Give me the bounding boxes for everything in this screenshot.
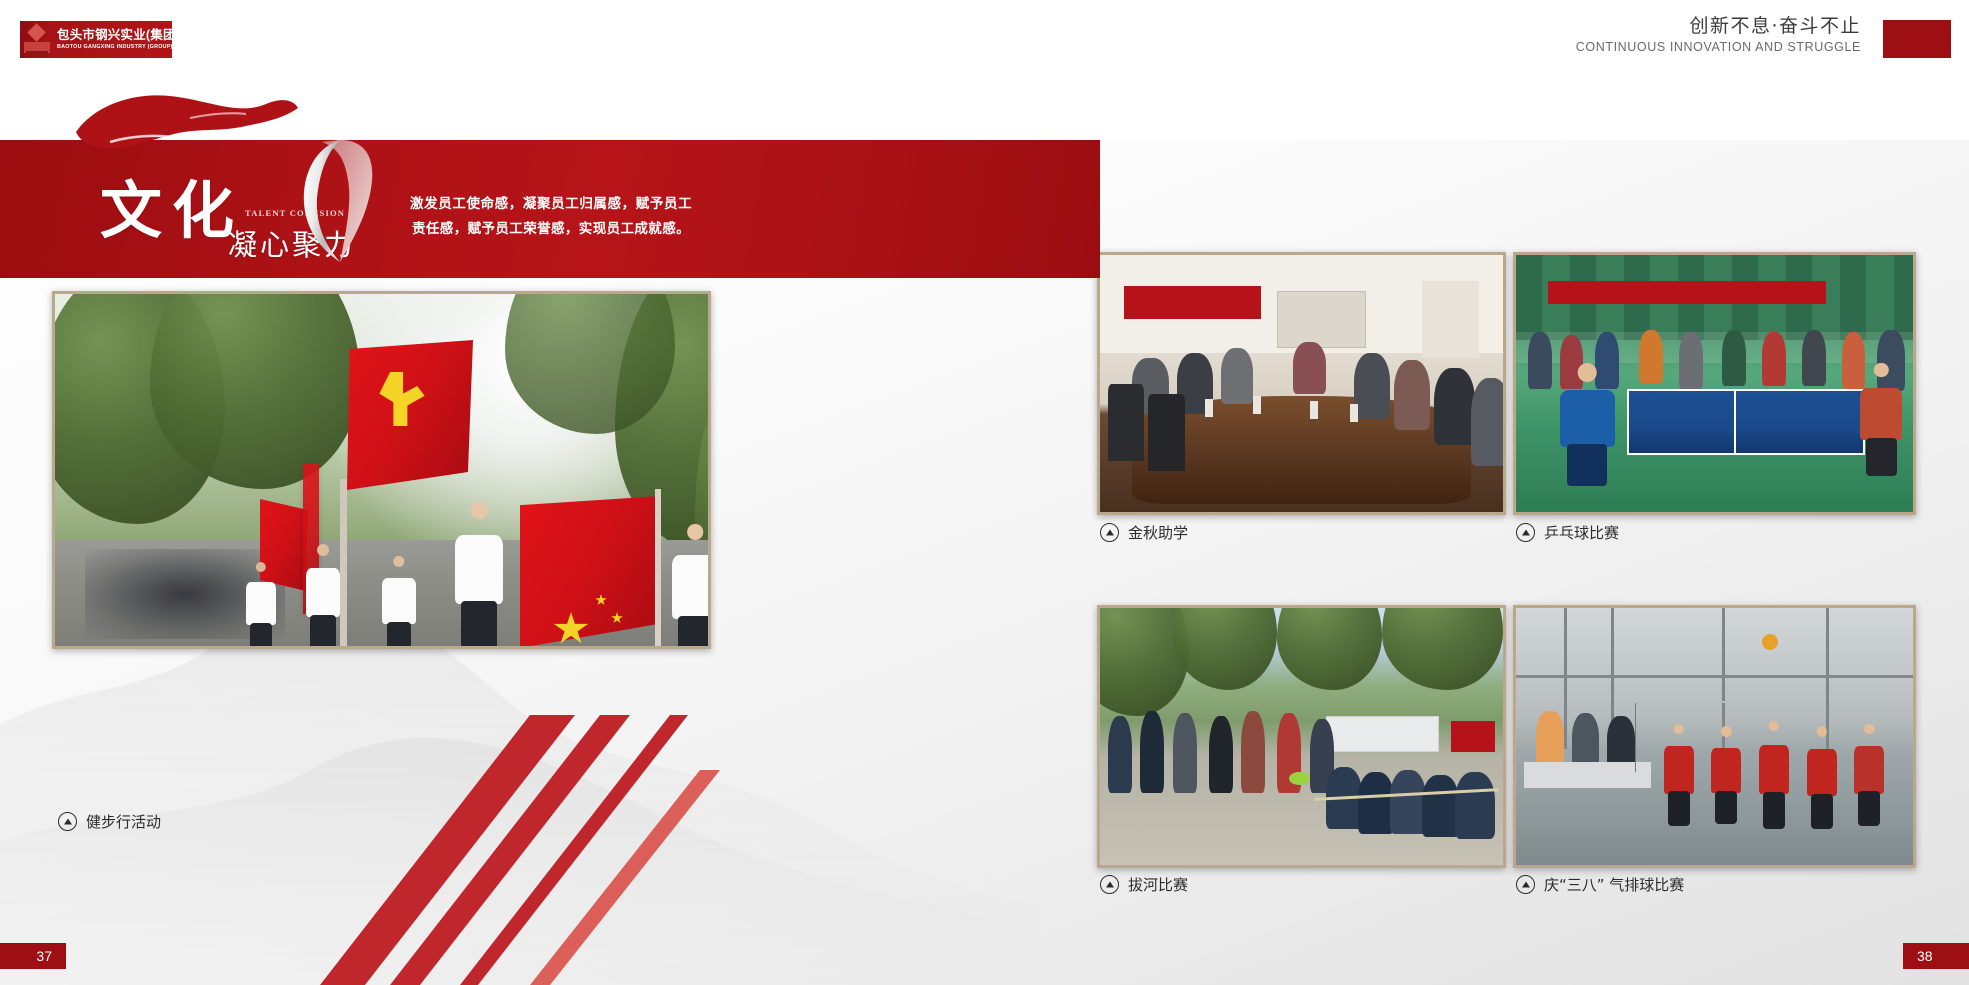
page-header: 包头市钢兴实业(集团)有限公司 BAOTOU GANGXING INDUSTRY… — [0, 0, 1969, 140]
caption-womens-day-volleyball: 庆“三八” 气排球比赛 — [1516, 874, 1684, 895]
company-name-en: BAOTOU GANGXING INDUSTRY (GROUP) CO., LT… — [57, 43, 172, 51]
caption-table-tennis-match: 乒乓球比赛 — [1516, 522, 1619, 543]
caption-text: 庆“三八” 气排球比赛 — [1544, 874, 1684, 895]
photo-table-tennis-match[interactable] — [1513, 252, 1916, 515]
photo-womens-day-volleyball[interactable] — [1513, 605, 1916, 868]
diagonal-red-stripes — [230, 655, 750, 985]
company-logo[interactable]: 包头市钢兴实业(集团)有限公司 BAOTOU GANGXING INDUSTRY… — [20, 21, 172, 58]
caret-up-circle-icon — [1516, 875, 1535, 894]
photo-walking-activity[interactable] — [52, 291, 711, 649]
caption-text: 健步行活动 — [86, 811, 161, 832]
caption-text: 拔河比赛 — [1128, 874, 1188, 895]
slogan-cn: 创新不息·奋斗不止 — [1576, 14, 1861, 38]
page-number-right: 38 — [1903, 943, 1969, 969]
caption-golden-autumn-aid: 金秋助学 — [1100, 522, 1188, 543]
gangxing-diamond-logo-mark-icon — [20, 21, 54, 58]
header-slogan: 创新不息·奋斗不止 CONTINUOUS INNOVATION AND STRU… — [1576, 14, 1861, 56]
header-red-block — [1883, 20, 1951, 58]
banner-description: 激发员工使命感，凝聚员工归属感，赋予员工责任感，赋予员工荣誉感，实现员工成就感。 — [410, 192, 692, 242]
page-number-left: 37 — [0, 943, 66, 969]
caption-text: 金秋助学 — [1128, 522, 1188, 543]
photo-golden-autumn-aid[interactable] — [1097, 252, 1506, 515]
caret-up-circle-icon — [1100, 523, 1119, 542]
slogan-en: CONTINUOUS INNOVATION AND STRUGGLE — [1576, 38, 1861, 56]
caret-up-circle-icon — [58, 812, 77, 831]
caption-tug-of-war: 拔河比赛 — [1100, 874, 1188, 895]
caption-text: 乒乓球比赛 — [1544, 522, 1619, 543]
section-title-en: TALENT COHESION — [245, 208, 345, 218]
company-name-cn: 包头市钢兴实业(集团)有限公司 — [57, 28, 172, 43]
section-subtitle-cn: 凝心聚力 — [228, 228, 356, 262]
photo-tug-of-war[interactable] — [1097, 605, 1506, 868]
section-title-cn: 文化 — [100, 178, 244, 244]
caret-up-circle-icon — [1100, 875, 1119, 894]
brochure-spread: 包头市钢兴实业(集团)有限公司 BAOTOU GANGXING INDUSTRY… — [0, 0, 1969, 985]
caret-up-circle-icon — [1516, 523, 1535, 542]
caption-walking-activity: 健步行活动 — [58, 811, 161, 832]
